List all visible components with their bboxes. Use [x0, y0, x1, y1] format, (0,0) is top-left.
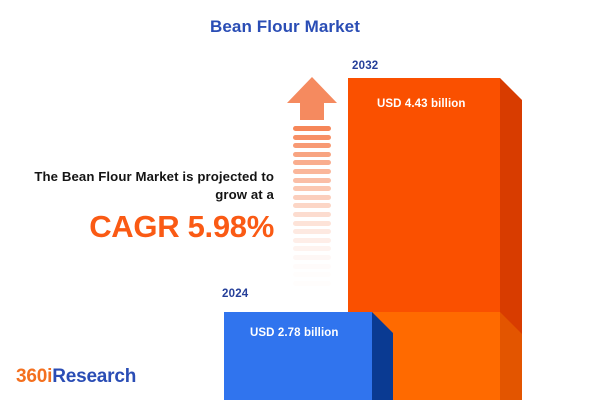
- arrow-stripe: [293, 246, 331, 251]
- bar-2032-side-face: [500, 78, 522, 400]
- bar-label-2032: 2032: [352, 60, 378, 72]
- arrow-stripe: [293, 178, 331, 183]
- arrow-stripe: [293, 195, 331, 200]
- arrow-stripe: [293, 212, 331, 217]
- logo-primary-text: 360i: [16, 366, 52, 387]
- arrow-stripe: [293, 143, 331, 148]
- arrow-stripe-stack: [293, 126, 331, 294]
- arrow-stripe: [293, 186, 331, 191]
- bar-label-2024: 2024: [222, 288, 248, 300]
- arrow-stripe: [293, 169, 331, 174]
- arrow-stripe: [293, 238, 331, 243]
- arrow-stripe: [293, 221, 331, 226]
- caption-text: The Bean Flour Market is projected to gr…: [12, 168, 274, 204]
- bar-2032-front-upper: [348, 78, 500, 312]
- infographic-canvas: Bean Flour Market The Bean Flour Market …: [0, 0, 600, 400]
- logo-secondary-text: Research: [52, 366, 136, 387]
- brand-logo[interactable]: 360iResearch: [16, 366, 136, 388]
- bar-2024-side-face: [372, 312, 393, 400]
- arrow-stripe: [293, 126, 331, 131]
- arrow-head-icon: [286, 76, 338, 126]
- arrow-stripe: [293, 160, 331, 165]
- arrow-stripe: [293, 152, 331, 157]
- upward-growth-arrow: [286, 76, 338, 294]
- caption-block: The Bean Flour Market is projected to gr…: [12, 168, 274, 244]
- bar-2024-front-face: [224, 312, 372, 400]
- arrow-stripe: [293, 229, 331, 234]
- arrow-stripe: [293, 255, 331, 260]
- arrow-stripe: [293, 135, 331, 140]
- cagr-value: CAGR 5.98%: [12, 210, 274, 244]
- arrow-stripe: [293, 281, 331, 286]
- arrow-stripe: [293, 203, 331, 208]
- bar-value-2024: USD 2.78 billion: [250, 327, 339, 339]
- page-title: Bean Flour Market: [0, 17, 570, 37]
- arrow-stripe: [293, 264, 331, 269]
- bar-value-2032: USD 4.43 billion: [377, 98, 466, 110]
- arrow-stripe: [293, 272, 331, 277]
